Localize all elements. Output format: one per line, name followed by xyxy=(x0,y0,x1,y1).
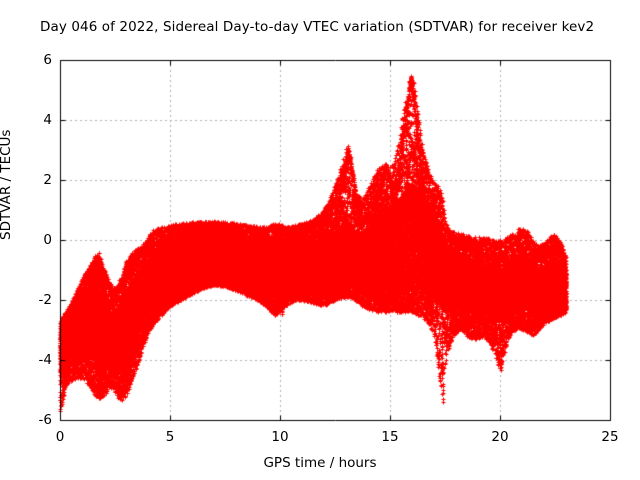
scatter-plot-canvas xyxy=(0,0,640,480)
chart-container: Day 046 of 2022, Sidereal Day-to-day VTE… xyxy=(0,0,640,480)
